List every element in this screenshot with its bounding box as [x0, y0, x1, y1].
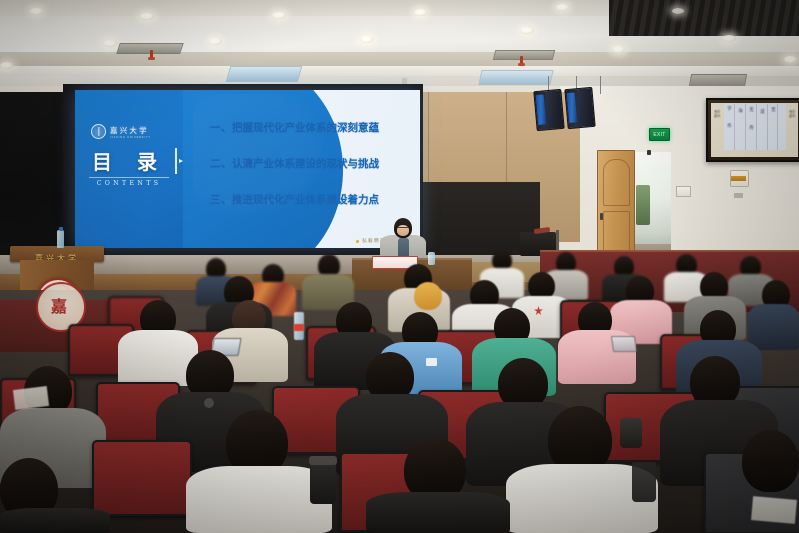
ceiling-light — [0, 62, 13, 69]
wall-switch-plate[interactable] — [676, 186, 691, 197]
wall-crest-character: 嘉 — [51, 293, 67, 317]
ceiling-light — [672, 8, 684, 14]
slide-item-1-num: 一、 — [210, 122, 232, 134]
calligraphy-char: 苦 — [770, 108, 777, 114]
lecture-hall-photo: 嘉兴大学 JIAXING UNIVERSITY 目 录 CONTENTS 现代化… — [0, 0, 799, 533]
slide-university-name-en: JIAXING UNIVERSITY — [110, 136, 151, 139]
university-logo-icon — [91, 124, 106, 139]
ceiling-light — [208, 38, 222, 45]
sprinkler-head — [520, 56, 523, 65]
audience-head-blonde — [414, 282, 442, 310]
emergency-exit-sign: EXIT — [649, 128, 670, 141]
exit-sign-label: EXIT — [653, 132, 665, 138]
slide-item-2-text: 认清产业体系建设的现状与挑战 — [232, 158, 379, 170]
ceiling-vent — [226, 66, 303, 82]
ceiling-light — [722, 35, 736, 42]
drink-tumbler — [310, 462, 336, 504]
bottle-label — [294, 324, 304, 331]
ceiling-light — [30, 8, 43, 15]
presenter-water-bottle — [428, 252, 435, 265]
slide-university-lockup: 嘉兴大学 JIAXING UNIVERSITY — [91, 124, 151, 139]
calligraphy-char: 海 — [737, 109, 744, 115]
ceiling-speaker-right — [564, 87, 595, 129]
slide-item-3: 三、推进现代化产业体系建设着力点 — [210, 192, 379, 207]
calligraphy-paper: 学 海 无 涯 苦 作 舟 — [724, 104, 786, 150]
ceiling-grille-right — [609, 0, 799, 36]
handout-paper — [751, 496, 797, 524]
ceiling-light — [612, 46, 625, 53]
ceiling-vent — [478, 70, 553, 85]
calligraphy-char: 涯 — [759, 110, 766, 116]
speaker-grille — [567, 92, 578, 123]
ceiling-light — [272, 12, 286, 19]
slide-section-label-cn: 目 录 — [89, 146, 169, 175]
wall-marking — [734, 193, 743, 198]
handout-paper — [13, 386, 49, 410]
ceiling-light — [414, 9, 427, 16]
hoodie-drawstring — [204, 398, 214, 408]
calligraphy-char: 无 — [748, 108, 755, 114]
slide-footer-dot-icon — [356, 240, 359, 243]
slide-item-2-num: 二、 — [210, 158, 232, 170]
ceiling-light — [556, 4, 569, 11]
wall-sensor — [647, 150, 651, 155]
ceiling-vent — [493, 50, 555, 60]
presenter-glasses — [397, 227, 409, 230]
bottle-cap — [59, 227, 63, 231]
jacket-logo — [426, 358, 437, 366]
laptop-screen[interactable] — [611, 336, 637, 352]
ceiling-beam-lip — [0, 66, 799, 76]
speaker-rod — [600, 76, 601, 94]
ceiling-light — [784, 56, 797, 63]
calligraphy-char: 学 — [726, 107, 733, 113]
slide-divider-tick — [175, 148, 177, 174]
door-handle[interactable] — [600, 213, 603, 220]
ceiling-light — [360, 36, 373, 43]
calligraphy-char: 舟 — [748, 126, 755, 132]
drink-tumbler — [632, 462, 656, 502]
slide-item-2: 二、认清产业体系建设的现状与挑战 — [210, 156, 379, 171]
door-panel-upper — [603, 159, 630, 206]
audience-head-foreground — [742, 430, 799, 492]
calligraphy-inscription: 书于嘉兴 — [714, 110, 722, 118]
ceiling-light — [140, 13, 154, 20]
slide-university-name-cn: 嘉兴大学 — [110, 125, 151, 136]
slide-item-1: 一、把握现代化产业体系的深刻意蕴 — [210, 120, 379, 135]
calligraphy-signature: 书于嘉兴 — [789, 110, 797, 118]
ceiling-light — [520, 27, 534, 34]
tumbler-lid — [309, 456, 337, 465]
audience-body — [748, 304, 799, 350]
slide-item-3-num: 三、 — [210, 194, 232, 206]
calligraphy-char: 作 — [726, 124, 733, 130]
audience-body-foreground — [366, 492, 510, 533]
projection-screen: 嘉兴大学 JIAXING UNIVERSITY 目 录 CONTENTS 现代化… — [75, 90, 420, 248]
slide-item-1-text: 把握现代化产业体系的深刻意蕴 — [232, 122, 379, 134]
sprinkler-head — [150, 50, 153, 59]
slide-rule — [89, 177, 169, 178]
slide-item-3-text: 推进现代化产业体系建设着力点 — [232, 194, 379, 206]
auditorium-seat[interactable] — [92, 440, 192, 516]
water-bottle — [57, 230, 64, 248]
speaker-grille — [536, 94, 547, 125]
ceiling-speaker-left — [533, 89, 564, 131]
ceiling-light — [103, 40, 117, 47]
audience-body-foreground — [0, 508, 110, 533]
slide-section-label-en: CONTENTS — [89, 180, 169, 187]
calligraphy-artwork: 学 海 无 涯 苦 作 舟 书于嘉兴 书于嘉兴 — [706, 98, 799, 162]
wall-notice-label — [731, 176, 746, 181]
corridor-plant — [636, 185, 650, 225]
backpack — [620, 418, 642, 448]
